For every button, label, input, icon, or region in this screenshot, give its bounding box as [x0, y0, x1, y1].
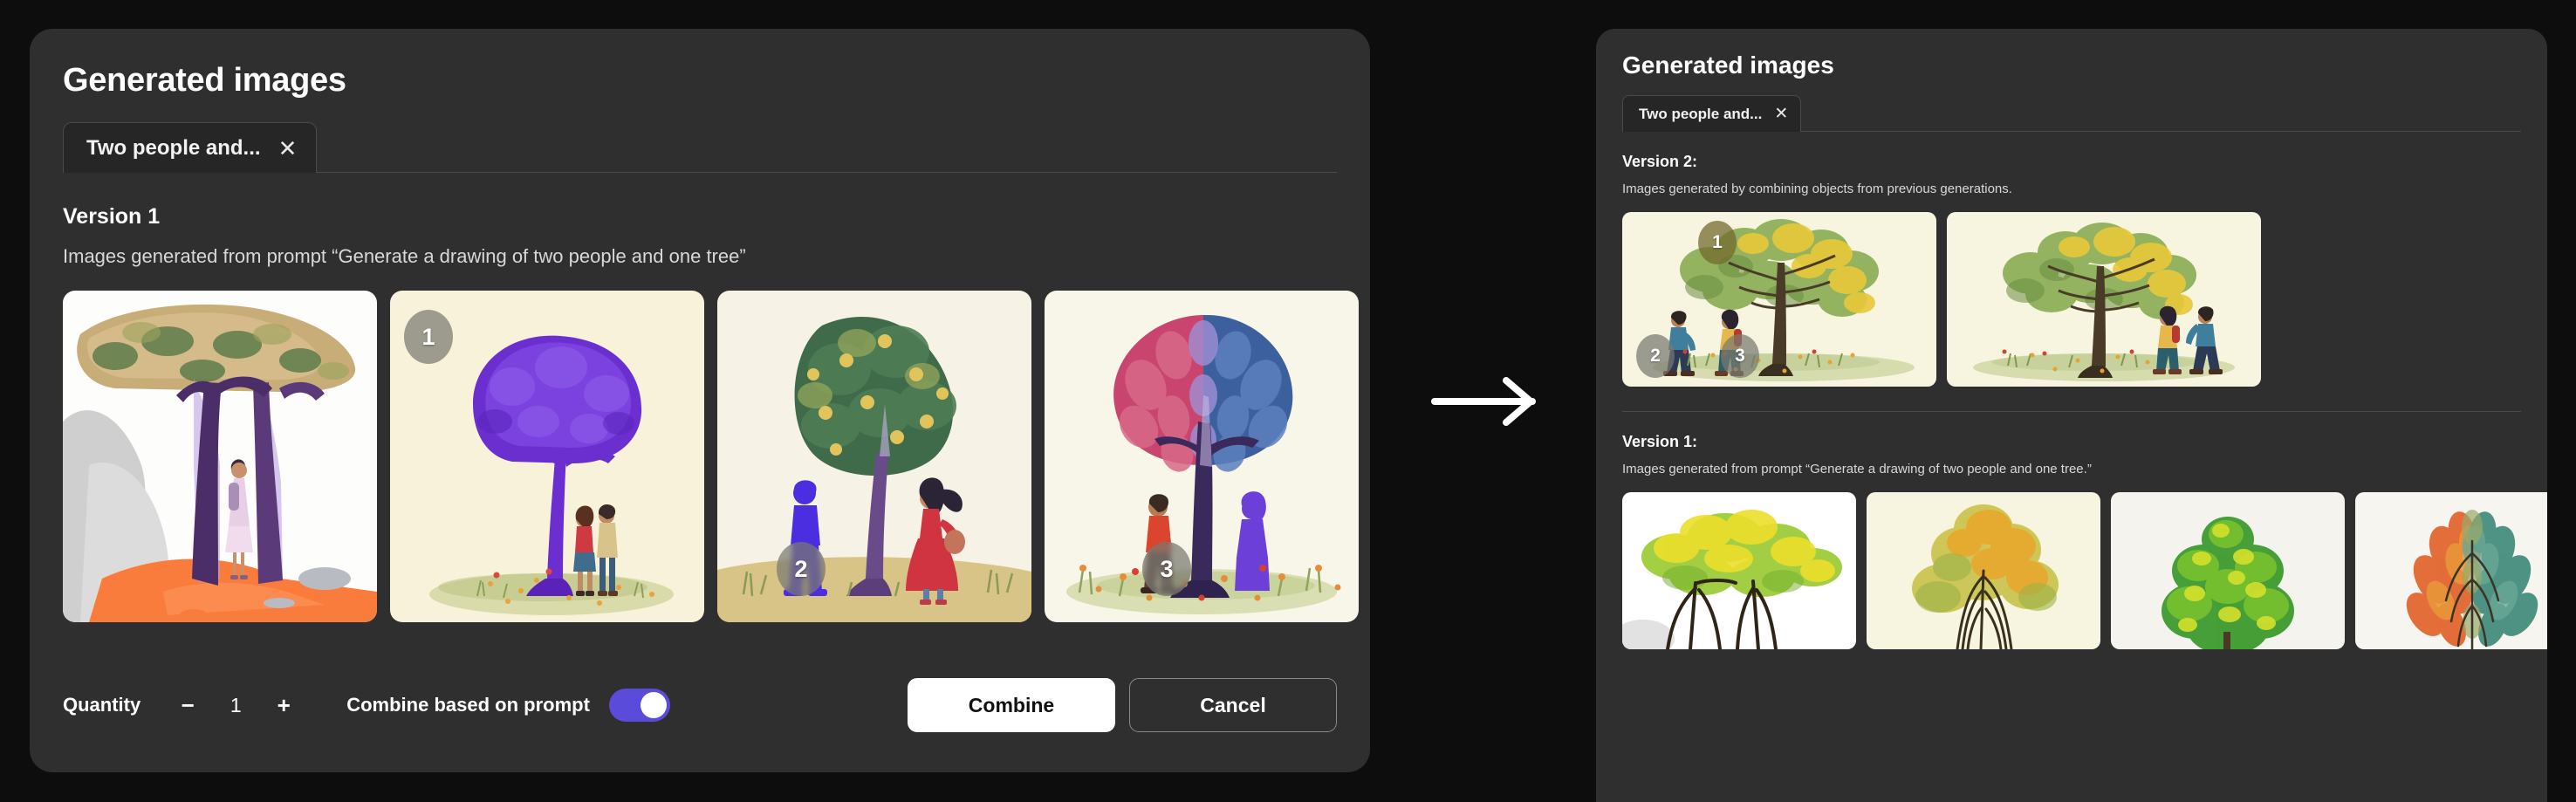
quantity-decrement-button[interactable]: − [168, 694, 207, 716]
sidebar-tab-bar: Two people and... ✕ [1622, 95, 2521, 132]
version-heading: Version 1 [63, 204, 1337, 230]
dialog-action-buttons: Combine Cancel [908, 678, 1337, 732]
close-icon[interactable]: ✕ [278, 137, 298, 160]
image-badge[interactable]: 3 [1142, 542, 1191, 596]
tab-bar: Two people and... ✕ [63, 122, 1337, 173]
generated-image-thumb[interactable] [1867, 492, 2100, 649]
image-green-tree-pair [717, 291, 1031, 622]
sidebar-version1-subtitle: Images generated from prompt “Generate a… [1622, 462, 2521, 476]
image-yellow-green-tree-walking [1947, 212, 2261, 387]
generated-image-thumb[interactable] [63, 291, 377, 622]
generated-image-thumb[interactable]: 1 2 3 [1622, 212, 1936, 387]
image-woman-twin-tree [63, 291, 377, 622]
prompt-chip-tab[interactable]: Two people and... ✕ [63, 122, 317, 173]
generated-image-thumb[interactable]: 1 [390, 291, 704, 622]
image-badge[interactable]: 1 [404, 310, 453, 364]
quantity-value[interactable]: 1 [207, 694, 264, 717]
image-badge[interactable]: 2 [777, 542, 826, 596]
generated-images-sidebar: Generated images Two people and... ✕ Ver… [1596, 29, 2547, 802]
page-title: Generated images [63, 29, 1337, 99]
arrow-right-glyph [1431, 375, 1545, 428]
screen-root: Generated images Two people and... ✕ Ver… [0, 0, 2576, 802]
generated-images-dialog: Generated images Two people and... ✕ Ver… [30, 29, 1370, 772]
image-badge[interactable]: 1 [1698, 221, 1737, 264]
image-half-orange-half-teal-tree [2355, 492, 2547, 649]
sidebar-prompt-chip-label: Two people and... [1639, 106, 1762, 123]
sidebar-version2-heading: Version 2: [1622, 153, 2521, 171]
prompt-chip-label: Two people and... [86, 136, 261, 161]
toggle-knob [641, 692, 667, 718]
dialog-controls: Quantity − 1 + Combine based on prompt C… [63, 678, 1337, 732]
image-gradient-tree-pair [1045, 291, 1359, 622]
generated-image-thumb[interactable] [1947, 212, 2261, 387]
generated-image-thumb[interactable]: 3 [1045, 291, 1359, 622]
close-icon[interactable]: ✕ [1774, 106, 1788, 122]
image-bright-green-conical-tree [2111, 492, 2345, 649]
sidebar-version2-thumbnails: 1 2 3 [1622, 212, 2521, 387]
combine-button[interactable]: Combine [908, 678, 1115, 732]
generated-image-thumb[interactable] [2111, 492, 2345, 649]
thumbnail-grid: 1 [63, 291, 1337, 622]
generated-image-thumb[interactable] [1622, 492, 1856, 649]
quantity-increment-button[interactable]: + [264, 694, 303, 716]
sidebar-page-title: Generated images [1622, 29, 2521, 79]
image-badge[interactable]: 2 [1636, 334, 1675, 378]
sidebar-version1-thumbnails [1622, 492, 2521, 649]
generated-image-thumb[interactable]: 2 [717, 291, 1031, 622]
image-tall-golden-tree [1867, 492, 2100, 649]
sidebar-version2-subtitle: Images generated by combining objects fr… [1622, 182, 2521, 196]
quantity-stepper: − 1 + [168, 694, 303, 717]
image-yellow-green-broad-tree [1622, 492, 1856, 649]
combine-toggle-label: Combine based on prompt [346, 694, 590, 716]
cancel-button[interactable]: Cancel [1129, 678, 1337, 732]
version-subtitle: Images generated from prompt “Generate a… [63, 245, 1337, 268]
arrow-right-icon [1431, 375, 1545, 428]
sidebar-version1-heading: Version 1: [1622, 433, 2521, 451]
quantity-label: Quantity [63, 694, 140, 716]
image-badge[interactable]: 3 [1721, 334, 1759, 378]
section-divider [1622, 411, 2521, 412]
combine-based-on-prompt-toggle[interactable] [609, 689, 670, 722]
generated-image-thumb[interactable] [2355, 492, 2547, 649]
sidebar-prompt-chip-tab[interactable]: Two people and... ✕ [1622, 95, 1801, 132]
